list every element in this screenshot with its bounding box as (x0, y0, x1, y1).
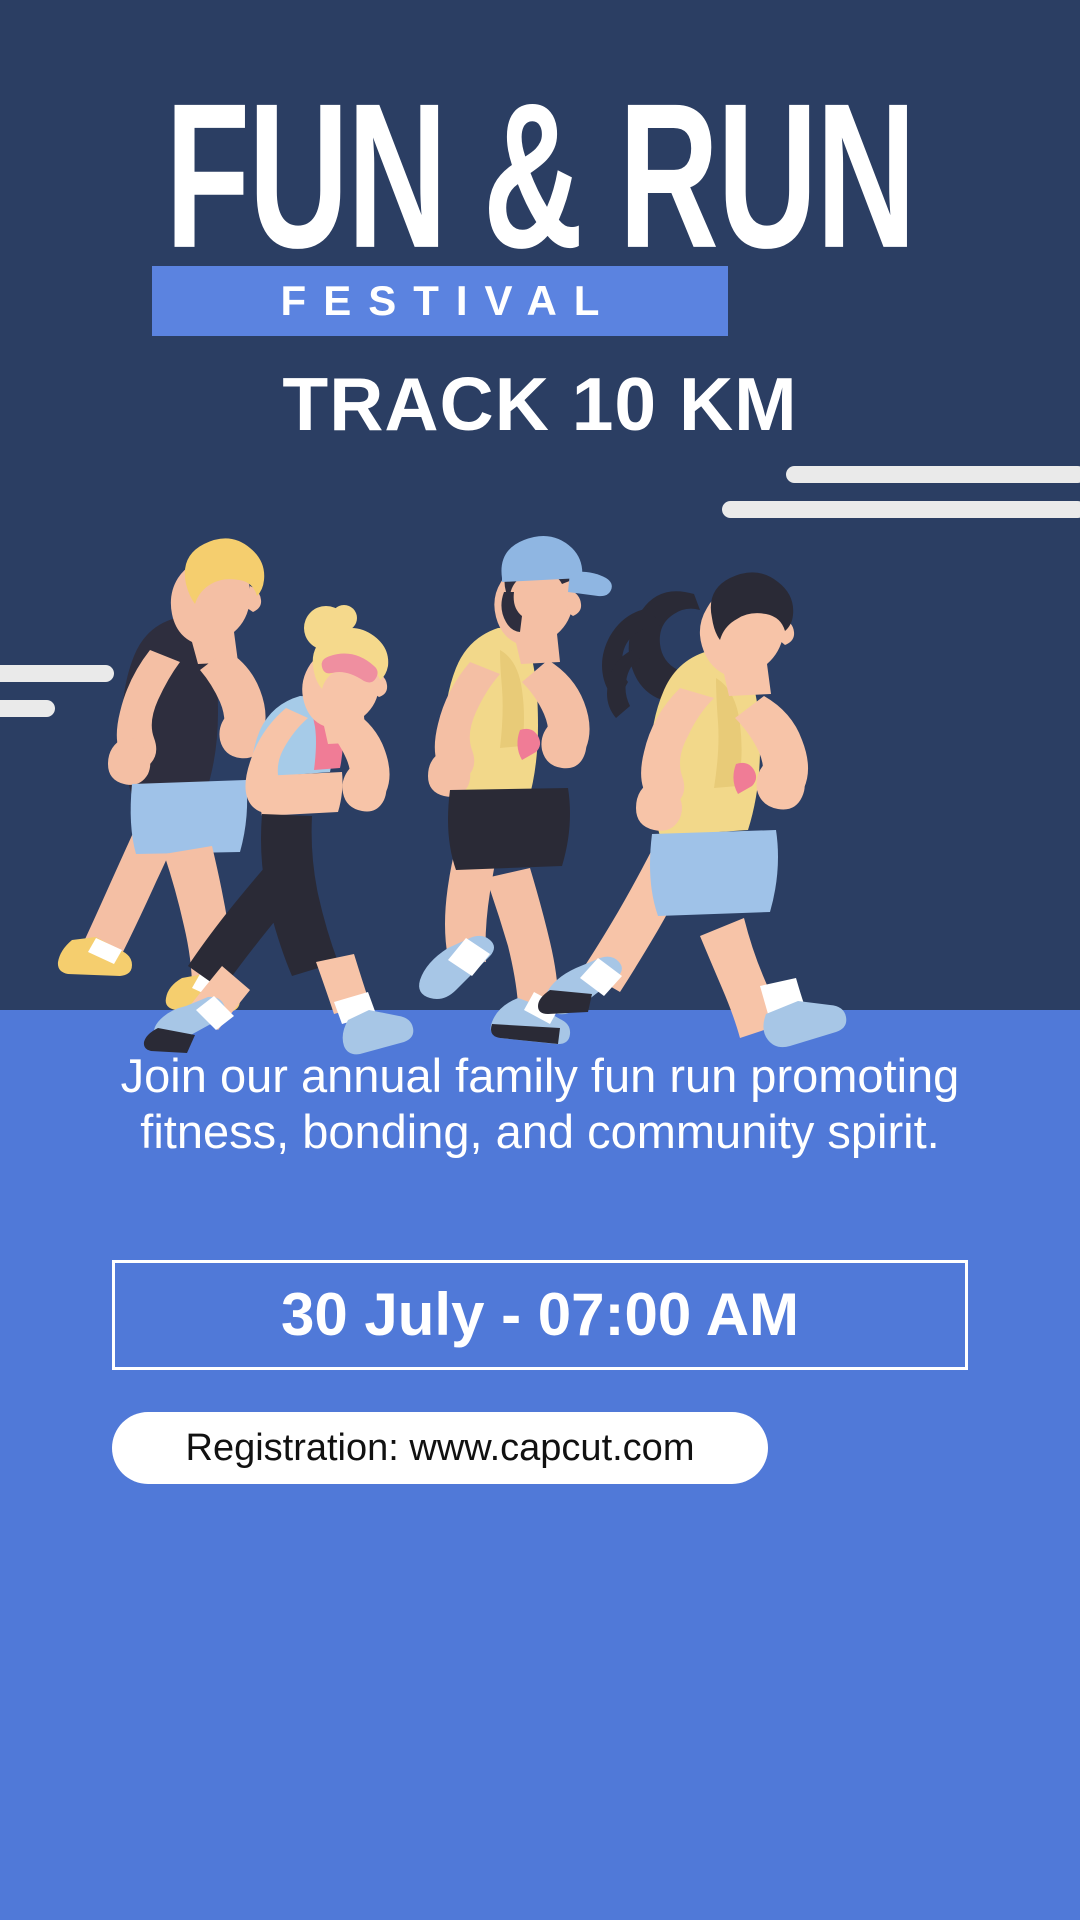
runners-illustration: .skA{fill:#F4BFA4}.skB{fill:#F7C4A8}.skS… (0, 500, 1080, 1060)
festival-band: FESTIVAL (152, 266, 728, 336)
poster-canvas: FUN & RUN FESTIVAL TRACK 10 KM .skA{fill… (0, 0, 1080, 1920)
runner-4 (538, 572, 846, 1047)
registration-button[interactable]: Registration: www.capcut.com (112, 1412, 768, 1484)
speed-line-icon (786, 466, 1080, 483)
registration-text: Registration: www.capcut.com (186, 1429, 695, 1467)
festival-label: FESTIVAL (264, 280, 617, 322)
date-time-box: 30 July - 07:00 AM (112, 1260, 968, 1370)
date-time-text: 30 July - 07:00 AM (281, 1285, 799, 1345)
event-description: Join our annual family fun run promoting… (70, 1048, 1010, 1160)
page-title: FUN & RUN (119, 88, 961, 264)
track-distance-label: TRACK 10 KM (0, 358, 1080, 450)
